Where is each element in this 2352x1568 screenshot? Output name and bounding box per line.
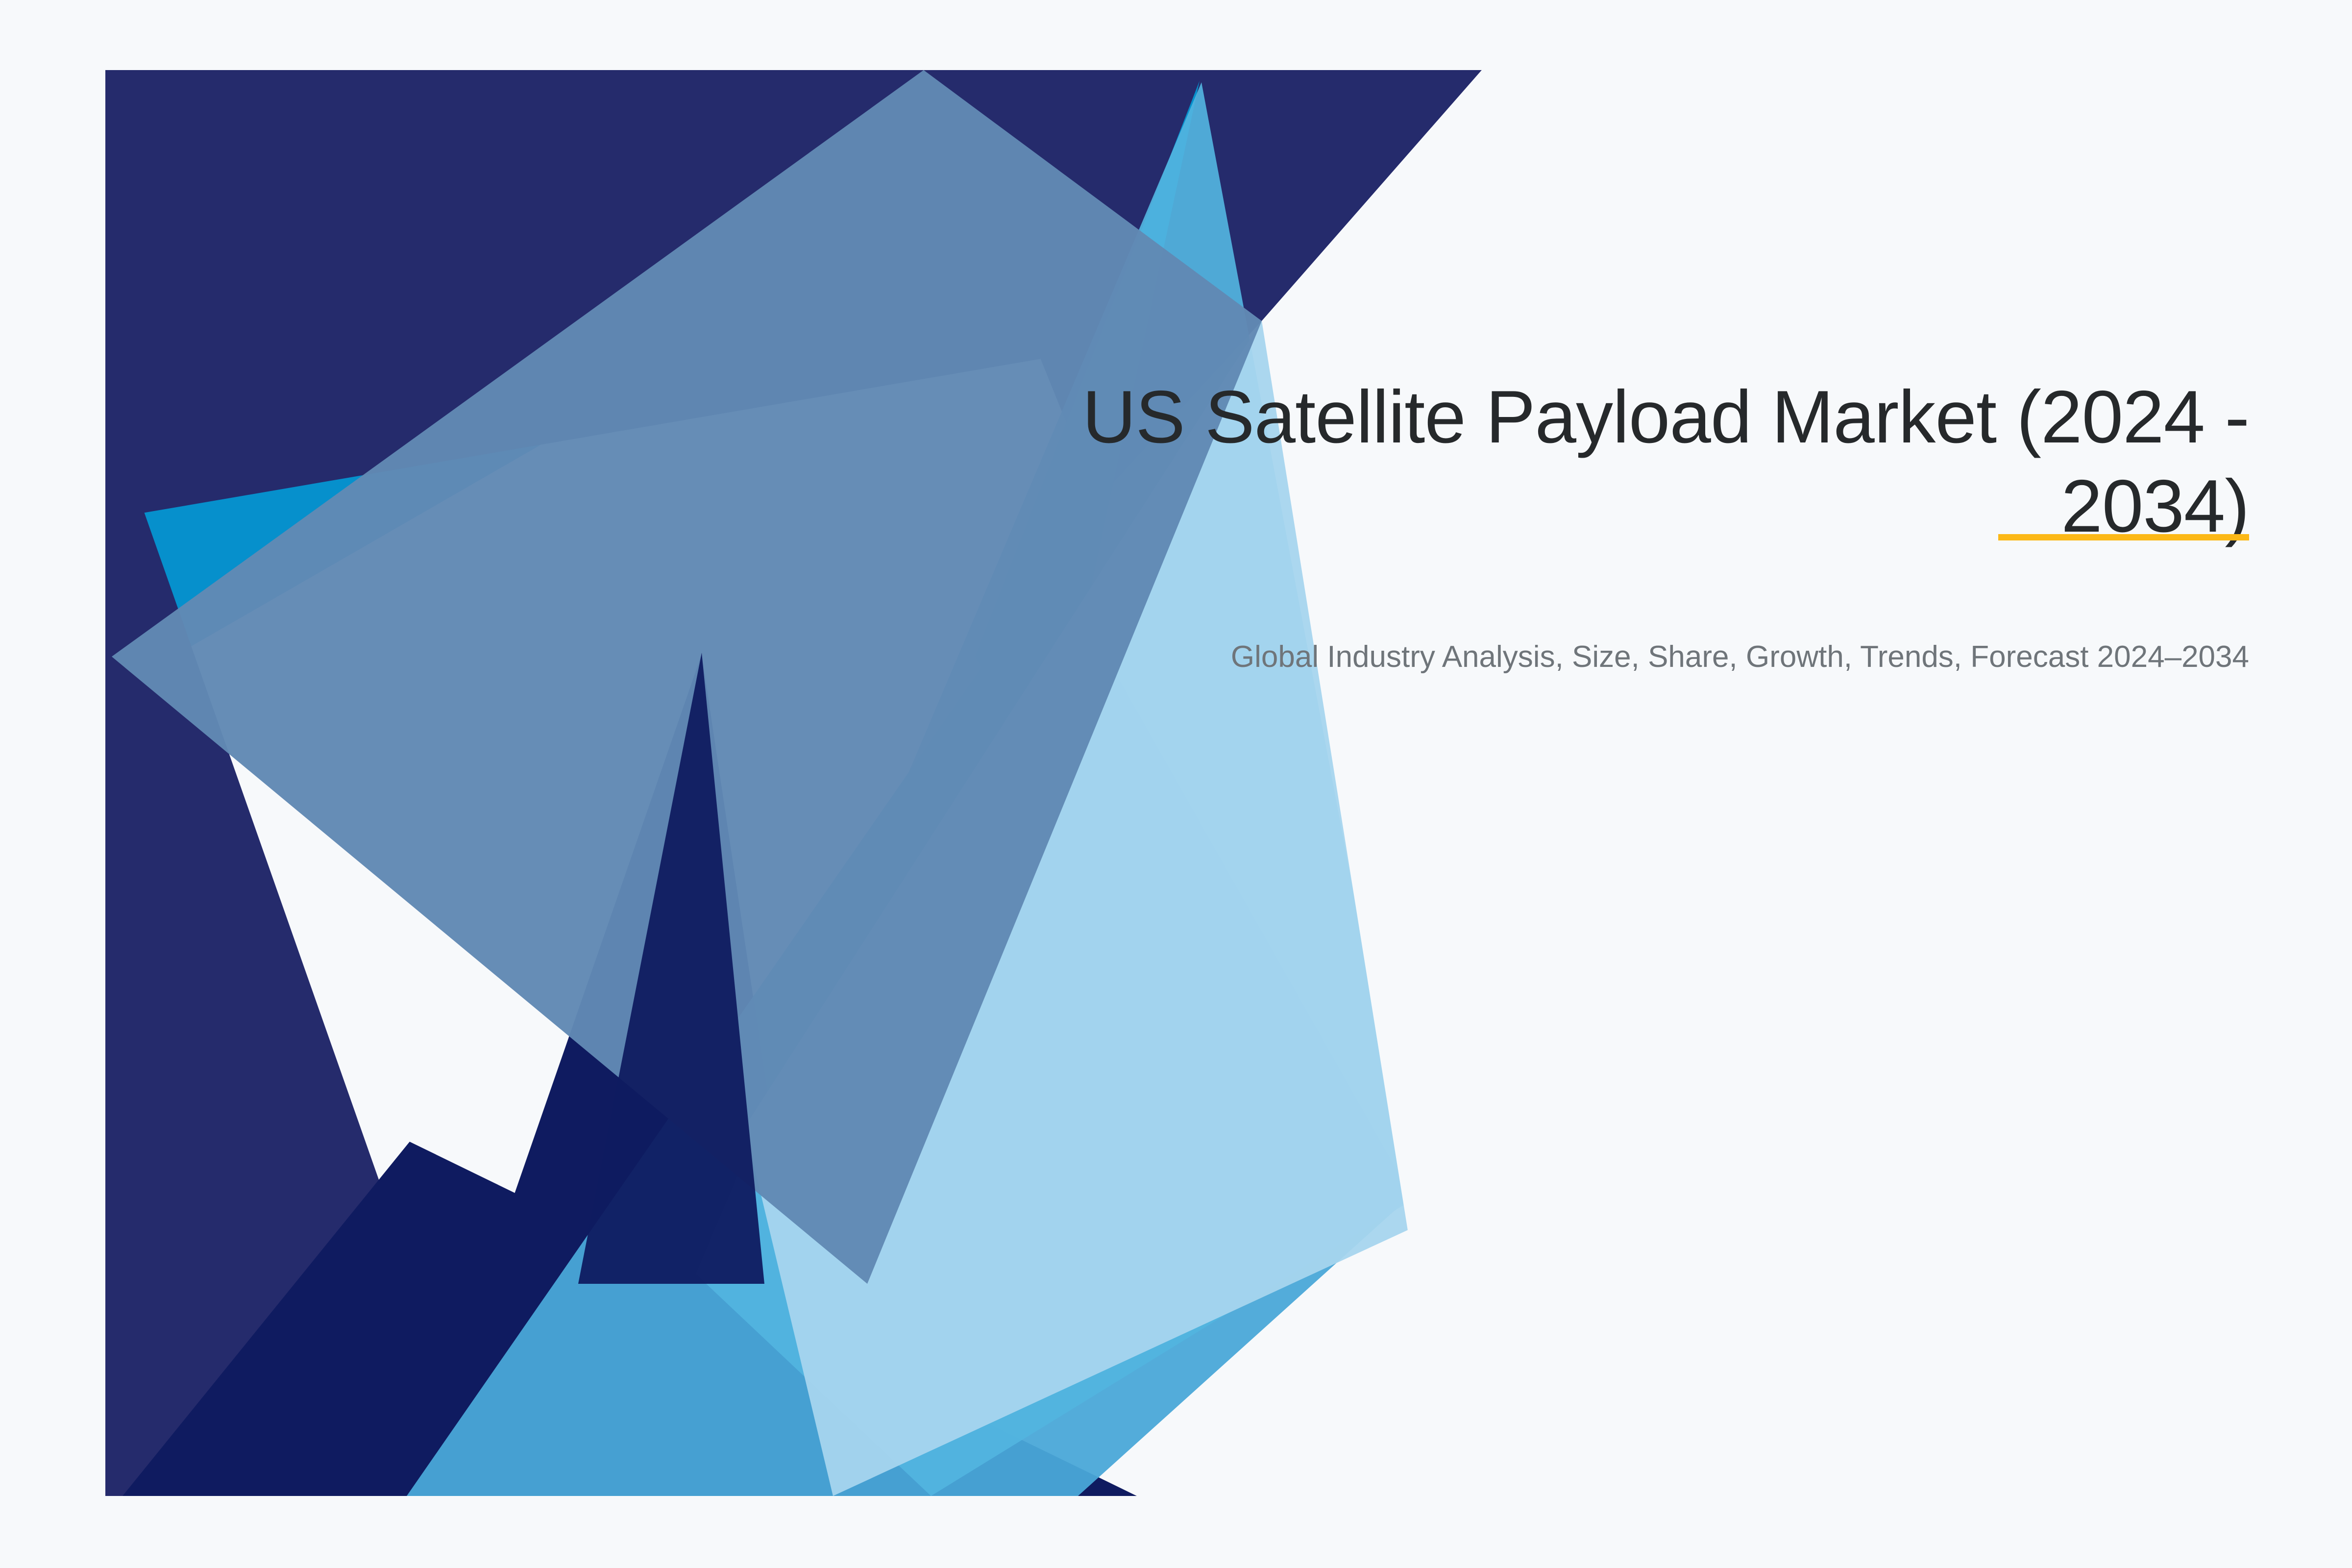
title-text-block: US Satellite Payload Market (2024 - 2034…	[916, 372, 2249, 679]
mask-right-upper	[1262, 70, 2352, 1496]
page-title: US Satellite Payload Market (2024 - 2034…	[916, 372, 2249, 551]
title-accent-underline	[1998, 534, 2249, 540]
page-subtitle: Global Industry Analysis, Size, Share, G…	[916, 551, 2249, 679]
mask-bottom	[0, 1496, 2352, 1568]
slide-canvas: US Satellite Payload Market (2024 - 2034…	[0, 0, 2352, 1568]
abstract-geometric-artwork	[0, 0, 2352, 1568]
mask-top	[0, 0, 2352, 70]
mask-left	[0, 0, 105, 1568]
